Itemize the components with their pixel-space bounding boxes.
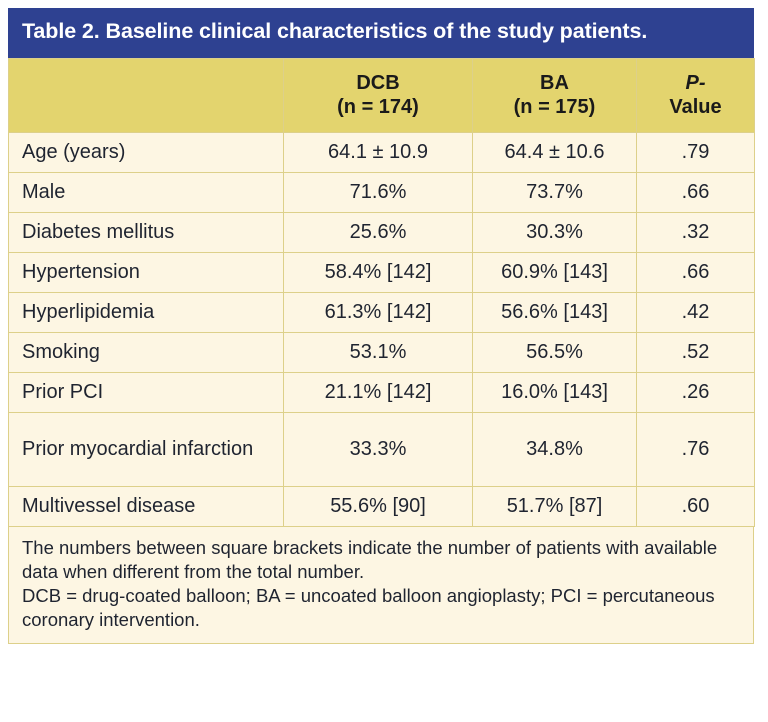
cell-ba: 60.9% [143] xyxy=(473,252,637,292)
table-body: Age (years) 64.1 ± 10.9 64.4 ± 10.6 .79 … xyxy=(9,132,755,526)
cell-ba: 16.0% [143] xyxy=(473,372,637,412)
table-footnote: The numbers between square brackets indi… xyxy=(8,527,754,644)
table-row: Male 71.6% 73.7% .66 xyxy=(9,172,755,212)
table-row: Multivessel disease 55.6% [90] 51.7% [87… xyxy=(9,486,755,526)
cell-pvalue: .60 xyxy=(637,486,755,526)
cell-dcb: 53.1% xyxy=(284,332,473,372)
table-title: Table 2. Baseline clinical characteristi… xyxy=(8,8,754,58)
table-row: Prior PCI 21.1% [142] 16.0% [143] .26 xyxy=(9,372,755,412)
cell-dcb: 55.6% [90] xyxy=(284,486,473,526)
table-row: Hypertension 58.4% [142] 60.9% [143] .66 xyxy=(9,252,755,292)
row-label: Smoking xyxy=(9,332,284,372)
row-label: Hyperlipidemia xyxy=(9,292,284,332)
cell-pvalue: .52 xyxy=(637,332,755,372)
cell-ba: 56.5% xyxy=(473,332,637,372)
table-row: Hyperlipidemia 61.3% [142] 56.6% [143] .… xyxy=(9,292,755,332)
cell-ba: 73.7% xyxy=(473,172,637,212)
table-row: Prior myocardial infarction 33.3% 34.8% … xyxy=(9,412,755,486)
column-header-ba-line1: BA xyxy=(483,71,626,95)
row-label: Diabetes mellitus xyxy=(9,212,284,252)
footnote-line-2: DCB = drug-coated balloon; BA = uncoated… xyxy=(22,584,740,632)
column-header-dcb-line2: (n = 174) xyxy=(294,95,462,119)
table-header-row: DCB (n = 174) BA (n = 175) P- Value xyxy=(9,58,755,132)
cell-ba: 34.8% xyxy=(473,412,637,486)
row-label: Male xyxy=(9,172,284,212)
table-row: Age (years) 64.1 ± 10.9 64.4 ± 10.6 .79 xyxy=(9,132,755,172)
row-label: Multivessel disease xyxy=(9,486,284,526)
cell-pvalue: .79 xyxy=(637,132,755,172)
cell-pvalue: .26 xyxy=(637,372,755,412)
cell-ba: 51.7% [87] xyxy=(473,486,637,526)
column-header-pvalue: P- Value xyxy=(637,58,755,132)
column-header-pvalue-line2: Value xyxy=(647,95,744,119)
cell-dcb: 21.1% [142] xyxy=(284,372,473,412)
cell-dcb: 64.1 ± 10.9 xyxy=(284,132,473,172)
footnote-line-1: The numbers between square brackets indi… xyxy=(22,536,740,584)
column-header-ba: BA (n = 175) xyxy=(473,58,637,132)
cell-dcb: 25.6% xyxy=(284,212,473,252)
row-label: Hypertension xyxy=(9,252,284,292)
table-header: DCB (n = 174) BA (n = 175) P- Value xyxy=(9,58,755,132)
cell-ba: 56.6% [143] xyxy=(473,292,637,332)
table-row: Diabetes mellitus 25.6% 30.3% .32 xyxy=(9,212,755,252)
cell-dcb: 71.6% xyxy=(284,172,473,212)
cell-pvalue: .66 xyxy=(637,252,755,292)
cell-dcb: 33.3% xyxy=(284,412,473,486)
cell-dcb: 61.3% [142] xyxy=(284,292,473,332)
cell-ba: 30.3% xyxy=(473,212,637,252)
column-header-characteristic xyxy=(9,58,284,132)
cell-dcb: 58.4% [142] xyxy=(284,252,473,292)
cell-pvalue: .66 xyxy=(637,172,755,212)
cell-ba: 64.4 ± 10.6 xyxy=(473,132,637,172)
column-header-pvalue-line1: P- xyxy=(647,71,744,95)
cell-pvalue: .42 xyxy=(637,292,755,332)
column-header-dcb-line1: DCB xyxy=(294,71,462,95)
cell-pvalue: .32 xyxy=(637,212,755,252)
baseline-characteristics-table: DCB (n = 174) BA (n = 175) P- Value Age … xyxy=(8,58,755,527)
cell-pvalue: .76 xyxy=(637,412,755,486)
row-label: Prior myocardial infarction xyxy=(9,412,284,486)
table-container: Table 2. Baseline clinical characteristi… xyxy=(8,8,754,644)
column-header-dcb: DCB (n = 174) xyxy=(284,58,473,132)
row-label: Prior PCI xyxy=(9,372,284,412)
table-row: Smoking 53.1% 56.5% .52 xyxy=(9,332,755,372)
column-header-ba-line2: (n = 175) xyxy=(483,95,626,119)
row-label: Age (years) xyxy=(9,132,284,172)
